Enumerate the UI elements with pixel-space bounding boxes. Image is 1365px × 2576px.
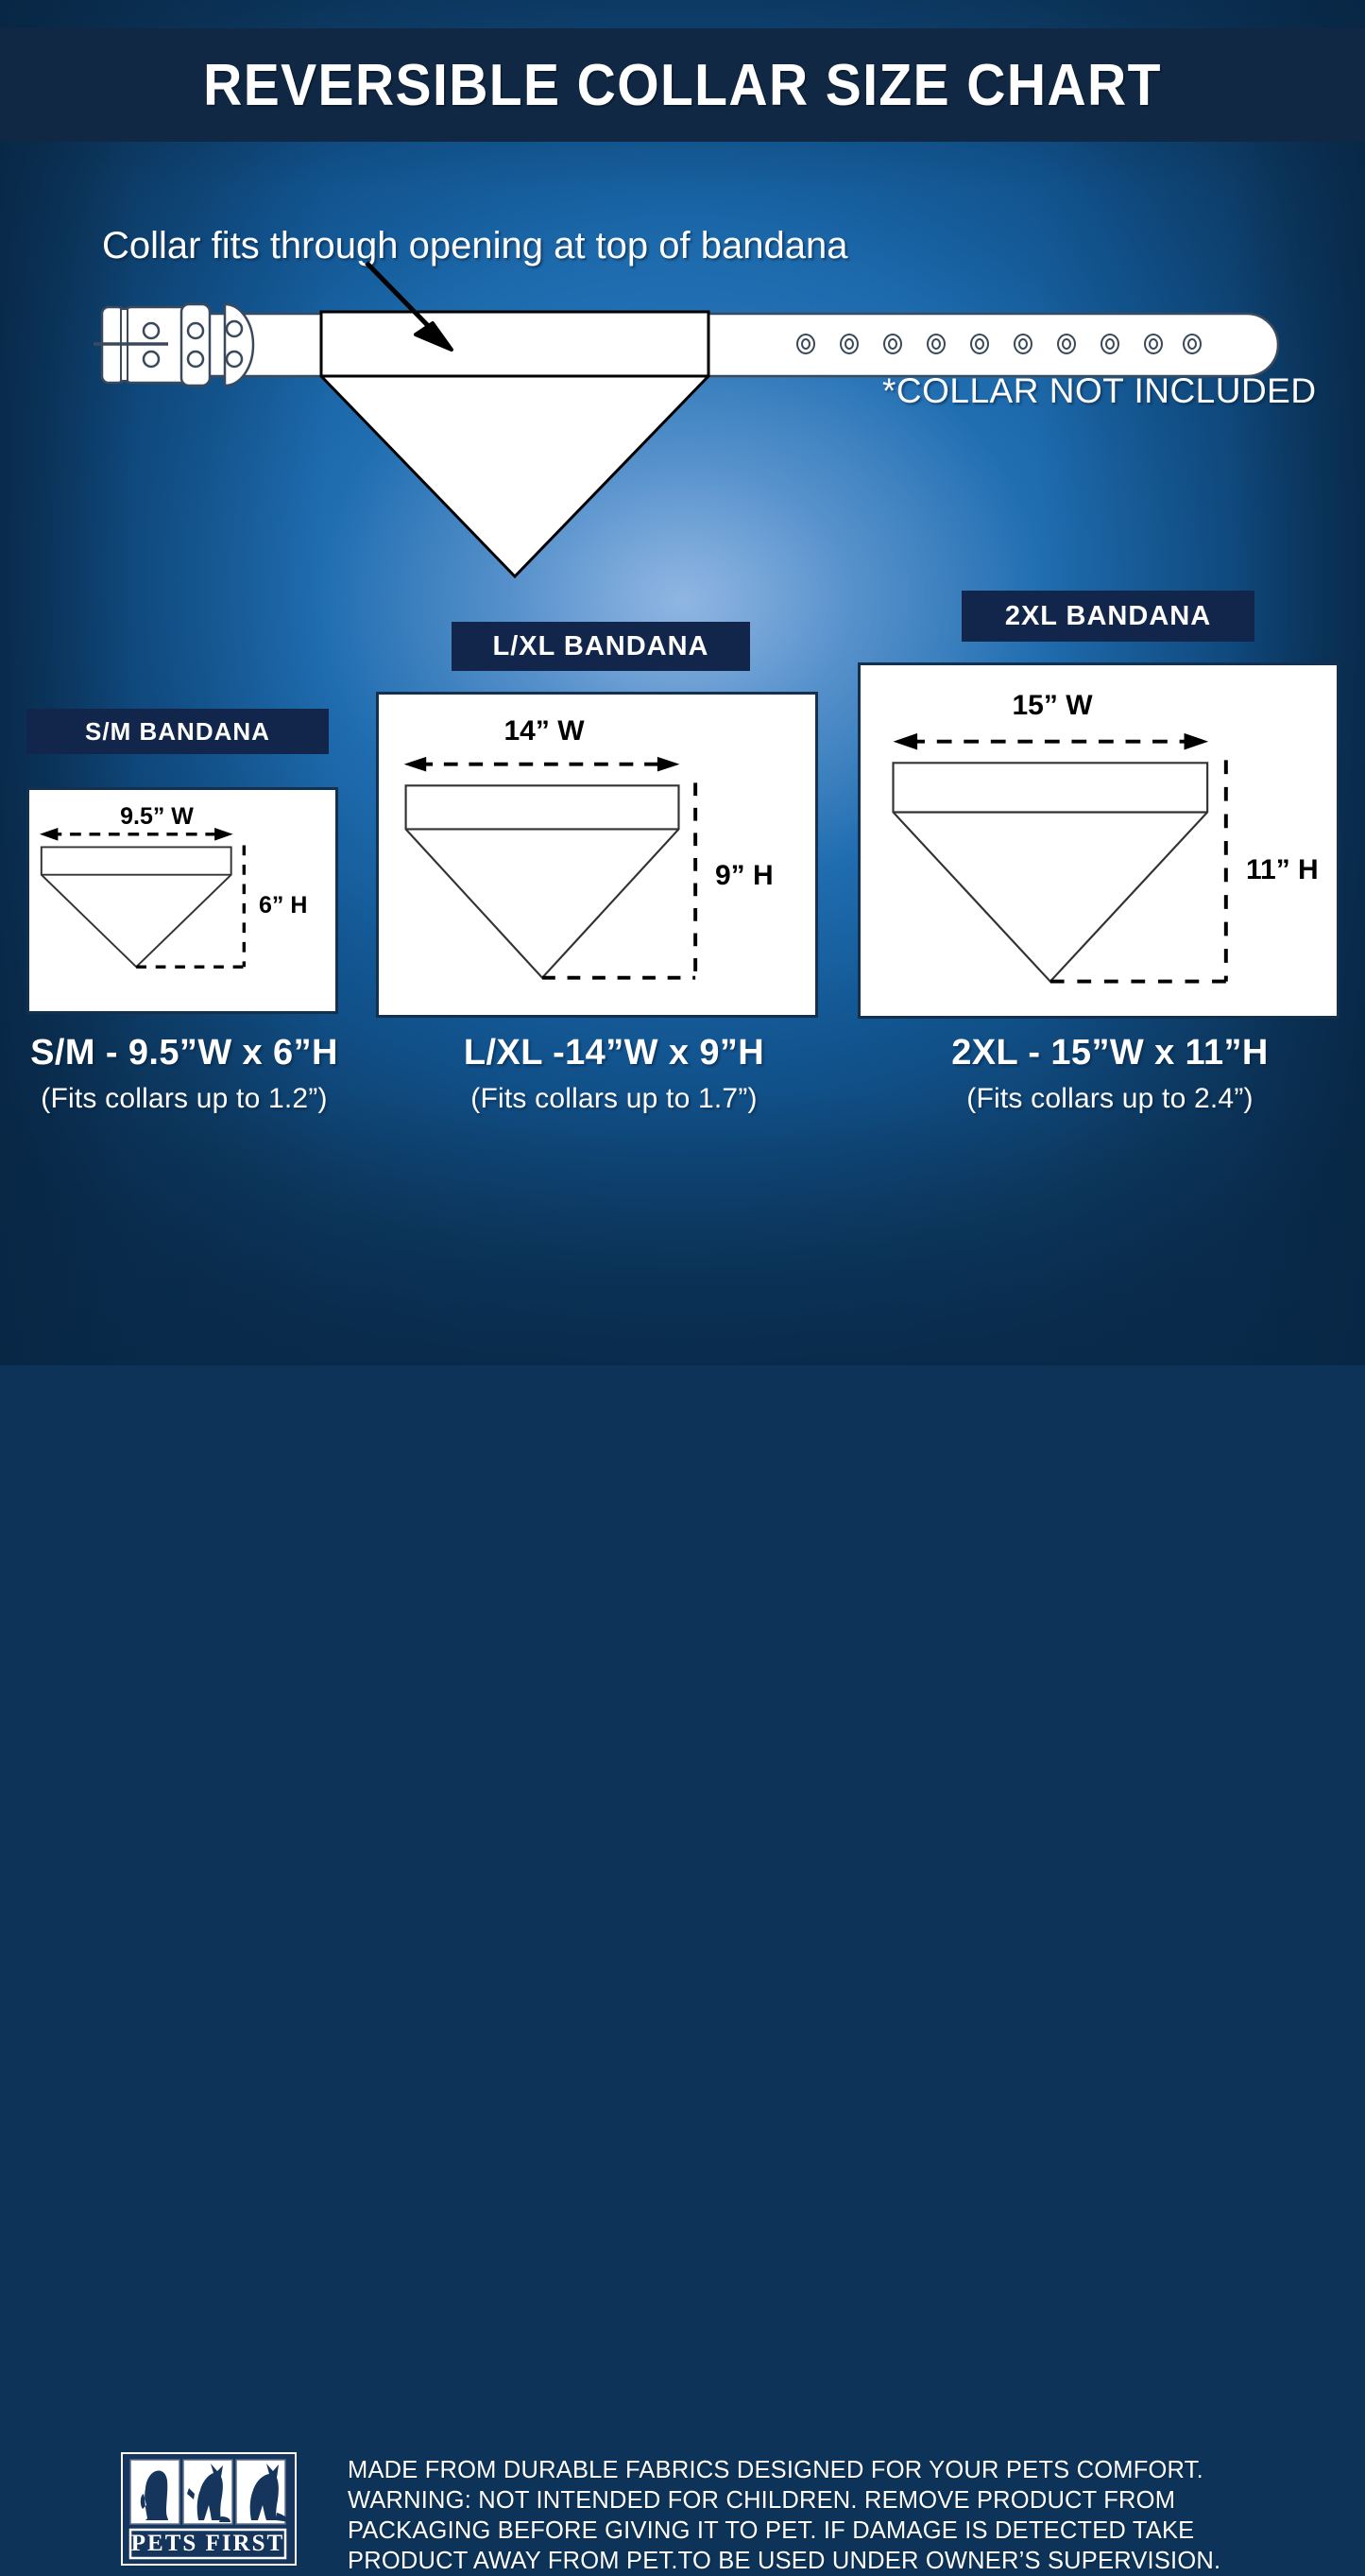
width-label-2xl: 15” W	[963, 690, 1142, 722]
size-caption-lxl-line2: (Fits collars up to 1.7”)	[430, 1083, 798, 1115]
height-label-lxl: 9” H	[715, 860, 774, 892]
pets-first-logo: PETS FIRST	[121, 2452, 297, 2566]
size-caption-lxl: L/XL -14”W x 9”H (Fits collars up to 1.7…	[430, 1033, 798, 1115]
width-label-sm: 9.5” W	[67, 803, 247, 831]
width-label-lxl: 14” W	[454, 715, 634, 747]
badge-lxl: L/XL BANDANA	[452, 622, 750, 671]
header-bar: REVERSIBLE COLLAR SIZE CHART	[0, 28, 1365, 142]
badge-sm-label: S/M BANDANA	[85, 717, 270, 747]
card-sm: 9.5” W 6” H	[26, 787, 338, 1014]
size-caption-2xl-line1: 2XL - 15”W x 11”H	[921, 1033, 1299, 1073]
size-caption-sm: S/M - 9.5”W x 6”H (Fits collars up to 1.…	[0, 1033, 368, 1115]
badge-2xl-label: 2XL BANDANA	[1005, 601, 1211, 632]
height-label-sm: 6” H	[259, 892, 307, 919]
disclaimer-line-4: PRODUCT AWAY FROM PET.TO BE USED UNDER O…	[348, 2546, 1278, 2576]
card-2xl: 15” W 11” H	[858, 662, 1339, 1019]
disclaimer-text: MADE FROM DURABLE FABRICS DESIGNED FOR Y…	[348, 2455, 1278, 2576]
size-panel-sm: S/M BANDANA 9.5” W 6” H	[26, 709, 338, 1014]
size-panel-lxl: L/XL BANDANA 14” W 9” H	[376, 622, 818, 1018]
size-caption-lxl-line1: L/XL -14”W x 9”H	[430, 1033, 798, 1073]
badge-lxl-label: L/XL BANDANA	[493, 631, 709, 662]
arrow-down-right-icon	[350, 255, 633, 387]
size-caption-sm-line2: (Fits collars up to 1.2”)	[0, 1083, 368, 1115]
footer: PETS FIRST MADE FROM DURABLE FABRICS DES…	[0, 1217, 1365, 1365]
page-title: REVERSIBLE COLLAR SIZE CHART	[203, 52, 1162, 119]
collar-not-included-note: *COLLAR NOT INCLUDED	[882, 371, 1317, 411]
disclaimer-line-3: PACKAGING BEFORE GIVING IT TO PET. IF DA…	[348, 2516, 1278, 2546]
height-label-2xl: 11” H	[1246, 854, 1319, 886]
badge-sm: S/M BANDANA	[26, 709, 329, 754]
collar-illustration-area	[0, 283, 1365, 595]
disclaimer-line-2: WARNING: NOT INTENDED FOR CHILDREN. REMO…	[348, 2485, 1278, 2516]
size-caption-2xl-line2: (Fits collars up to 2.4”)	[921, 1083, 1299, 1115]
size-caption-2xl: 2XL - 15”W x 11”H (Fits collars up to 2.…	[921, 1033, 1299, 1115]
size-caption-sm-line1: S/M - 9.5”W x 6”H	[0, 1033, 368, 1073]
size-panel-2xl: 2XL BANDANA 15” W 11” H	[858, 591, 1339, 1019]
logo-text: PETS FIRST	[131, 2531, 284, 2556]
three-dog-silhouettes-icon	[130, 2460, 291, 2524]
card-lxl: 14” W 9” H	[376, 692, 818, 1018]
disclaimer-line-1: MADE FROM DURABLE FABRICS DESIGNED FOR Y…	[348, 2455, 1278, 2485]
badge-2xl: 2XL BANDANA	[962, 591, 1254, 642]
